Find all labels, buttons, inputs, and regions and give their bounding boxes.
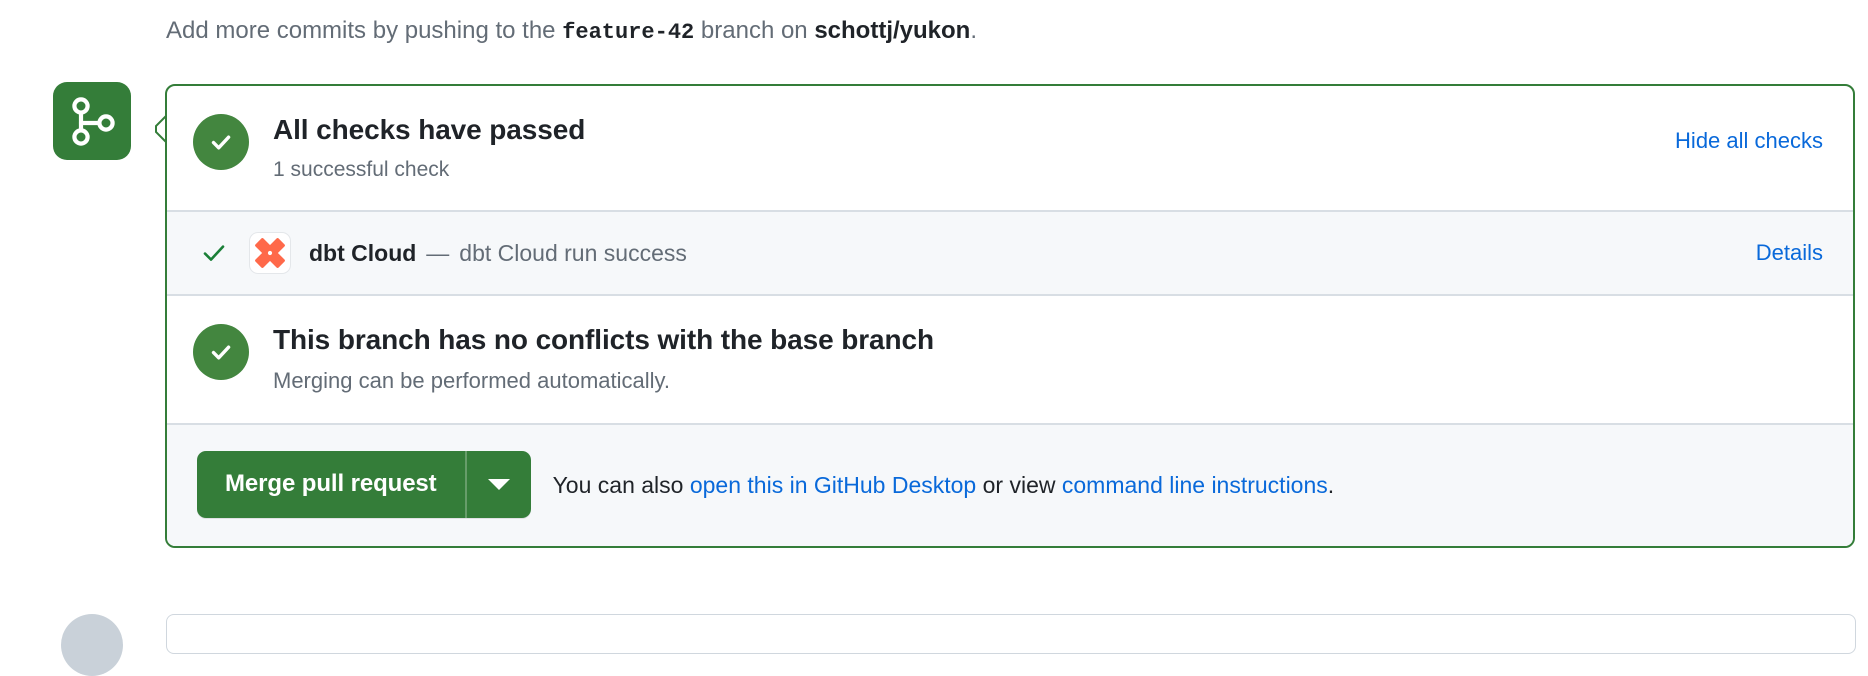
check-circle-icon bbox=[206, 127, 236, 157]
conflicts-status-circle bbox=[193, 324, 249, 380]
command-line-instructions-link[interactable]: command line instructions bbox=[1062, 472, 1328, 498]
dbt-cloud-logo-icon bbox=[250, 233, 290, 273]
branch-name: feature-42 bbox=[562, 20, 694, 45]
checks-summary-title: All checks have passed bbox=[273, 112, 1675, 148]
check-row: dbt Cloud — dbt Cloud run success Detail… bbox=[167, 210, 1853, 296]
push-commits-hint: Add more commits by pushing to the featu… bbox=[166, 14, 977, 50]
merge-button-group: Merge pull request bbox=[197, 451, 531, 518]
checks-summary-row: All checks have passed 1 successful chec… bbox=[167, 86, 1853, 210]
check-description: dbt Cloud run success bbox=[459, 238, 1755, 268]
next-comment-box bbox=[166, 614, 1856, 654]
merge-options-dropdown-button[interactable] bbox=[465, 451, 531, 518]
merge-note-prefix: You can also bbox=[553, 472, 684, 498]
conflicts-title: This branch has no conflicts with the ba… bbox=[273, 322, 934, 358]
merge-note-middle: or view bbox=[983, 472, 1056, 498]
check-details-link[interactable]: Details bbox=[1756, 238, 1823, 268]
merge-note-suffix: . bbox=[1328, 472, 1334, 498]
check-icon bbox=[200, 239, 228, 267]
merge-pull-request-button[interactable]: Merge pull request bbox=[197, 451, 465, 518]
check-circle-icon bbox=[206, 337, 236, 367]
push-hint-prefix: Add more commits by pushing to the bbox=[166, 17, 556, 44]
check-app-avatar bbox=[249, 232, 291, 274]
merge-status-box: All checks have passed 1 successful chec… bbox=[165, 84, 1855, 548]
check-dash: — bbox=[426, 238, 449, 268]
check-app-name: dbt Cloud bbox=[309, 238, 416, 268]
conflicts-text: This branch has no conflicts with the ba… bbox=[273, 322, 934, 395]
conflicts-subtitle: Merging can be performed automatically. bbox=[273, 366, 934, 395]
git-merge-icon bbox=[53, 82, 131, 160]
checks-summary-text: All checks have passed 1 successful chec… bbox=[273, 112, 1675, 184]
open-in-github-desktop-link[interactable]: open this in GitHub Desktop bbox=[690, 472, 976, 498]
repository-name: schottj/yukon bbox=[814, 17, 970, 44]
timeline-merge-badge bbox=[53, 82, 131, 160]
checks-summary-subtitle: 1 successful check bbox=[273, 156, 1675, 184]
merge-action-row: Merge pull request You can also open thi… bbox=[167, 425, 1853, 546]
checks-status-circle bbox=[193, 114, 249, 170]
conflicts-row: This branch has no conflicts with the ba… bbox=[167, 296, 1853, 425]
push-hint-middle: branch on bbox=[701, 17, 808, 44]
chevron-down-icon bbox=[488, 479, 510, 490]
check-success-tick bbox=[197, 239, 231, 267]
push-hint-suffix: . bbox=[970, 17, 977, 44]
hide-all-checks-link[interactable]: Hide all checks bbox=[1675, 126, 1823, 156]
next-timeline-avatar bbox=[61, 614, 123, 676]
merge-alternatives-note: You can also open this in GitHub Desktop… bbox=[553, 470, 1335, 500]
